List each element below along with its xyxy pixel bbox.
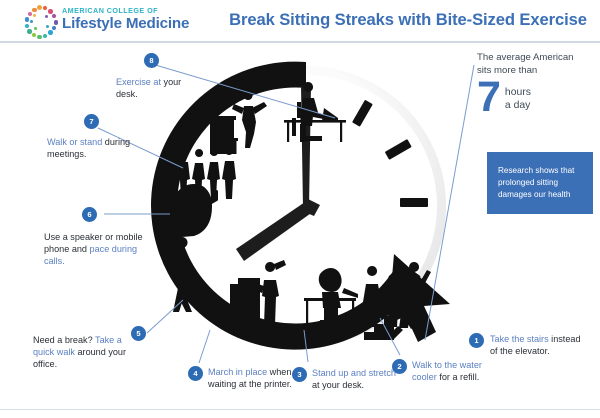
stat-number-row: 7 hours a day <box>477 80 597 115</box>
tip-4-highlight: March in place <box>208 367 267 377</box>
tip-badge-6[interactable]: 6 <box>82 207 97 222</box>
logo-wordmark: AMERICAN COLLEGE OF Lifestyle Medicine <box>62 7 189 32</box>
tip-5-lead: Need a break? <box>33 335 93 345</box>
research-callout-text: Research shows that prolonged sitting da… <box>498 165 586 201</box>
footer-divider <box>0 409 600 410</box>
tip-text-2: Walk to the water cooler for a refill. <box>412 359 490 383</box>
tip-text-3: Stand up and stretch at your desk. <box>312 367 396 391</box>
tip-1-highlight: Take the stairs <box>490 334 549 344</box>
header-bar: AMERICAN COLLEGE OF Lifestyle Medicine B… <box>0 0 600 42</box>
stat-unit: hours a day <box>505 86 531 113</box>
tip-text-1: Take the stairs instead of the elevator. <box>490 333 590 357</box>
tip-3-highlight: Stand up and stretch <box>312 368 396 378</box>
research-callout-box: Research shows that prolonged sitting da… <box>487 152 593 214</box>
logo-line2: Lifestyle Medicine <box>62 16 189 32</box>
tip-3-rest: at your desk. <box>312 380 364 390</box>
page-title: Break Sitting Streaks with Bite-Sized Ex… <box>222 10 594 30</box>
acl-logo-icon <box>24 5 58 39</box>
header-divider <box>0 41 600 43</box>
infographic-canvas: AMERICAN COLLEGE OF Lifestyle Medicine B… <box>0 0 600 418</box>
tip-text-8: Exercise at your desk. <box>116 76 196 100</box>
tip-badge-8[interactable]: 8 <box>144 53 159 68</box>
tip-text-6: Use a speaker or mobile phone and pace d… <box>44 231 160 267</box>
tip-badge-1[interactable]: 1 <box>469 333 484 348</box>
tip-7-highlight: Walk or stand <box>47 137 102 147</box>
average-sitting-stat: The average American sits more than 7 ho… <box>477 52 597 115</box>
tip-2-rest: for a refill. <box>439 372 479 382</box>
tip-text-7: Walk or stand during meetings. <box>47 136 151 160</box>
tip-badge-7[interactable]: 7 <box>84 114 99 129</box>
tip-text-4: March in place when waiting at the print… <box>208 366 300 390</box>
stat-number: 7 <box>477 80 500 115</box>
tip-8-highlight: Exercise at <box>116 77 161 87</box>
logo-line1: AMERICAN COLLEGE OF <box>62 7 189 15</box>
stat-line-1: The average American <box>477 52 597 65</box>
stat-unit-line2: a day <box>505 99 531 112</box>
tip-text-5: Need a break? Take a quick walk around y… <box>33 334 141 370</box>
stat-unit-line1: hours <box>505 86 531 99</box>
tip-badge-4[interactable]: 4 <box>188 366 203 381</box>
